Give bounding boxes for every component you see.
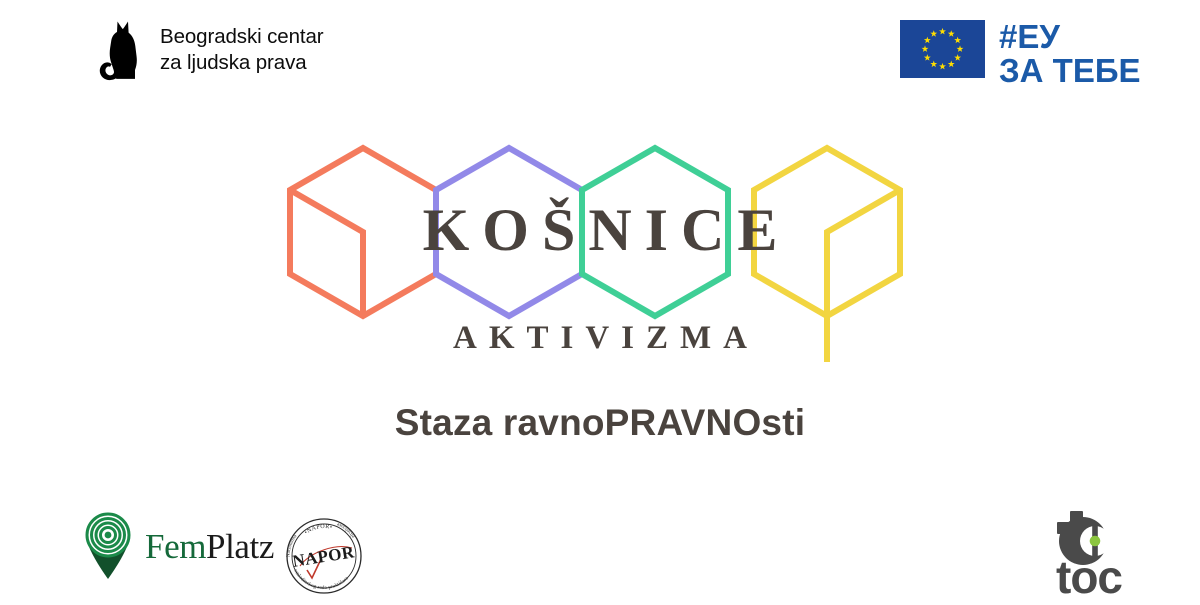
toc-label: toc: [1056, 551, 1122, 600]
toc-accent-dot: [1090, 536, 1101, 547]
femplatz-logo: FemPlatz: [80, 508, 274, 585]
eu-logo: #ЕУ ЗА ТЕБЕ: [900, 20, 1141, 87]
tagline: Staza ravnoPRAVNOsti: [0, 402, 1200, 444]
eu-wordmark-line-1: #ЕУ: [999, 21, 1141, 52]
bclp-logo-text: Beogradski centar za ljudska prava: [160, 24, 324, 76]
toc-logo: toc: [1048, 505, 1200, 605]
femplatz-wordmark: FemPlatz: [145, 527, 274, 567]
femplatz-fem: Fem: [145, 527, 206, 566]
bclp-line-1: Beogradski centar: [160, 24, 324, 50]
bclp-logo: Beogradski centar za ljudska prava: [92, 16, 324, 84]
map-pin-target-icon: [80, 508, 136, 585]
hexagon-green: [582, 148, 728, 316]
eu-flag-icon: [900, 20, 985, 78]
kosnice-aktivizma-logo: KOŠNICE AKTIVIZMA: [250, 122, 950, 387]
femplatz-platz: Platz: [206, 527, 274, 566]
eu-wordmark-line-2: ЗА ТЕБЕ: [999, 55, 1141, 86]
cat-silhouette-icon: [92, 16, 146, 84]
napor-logo: •NAPOR• omladinskog rada praktičara Naci…: [280, 512, 368, 605]
hexagon-purple: [436, 148, 582, 316]
eu-wordmark: #ЕУ ЗА ТЕБЕ: [999, 20, 1141, 87]
bclp-line-2: za ljudska prava: [160, 50, 324, 76]
